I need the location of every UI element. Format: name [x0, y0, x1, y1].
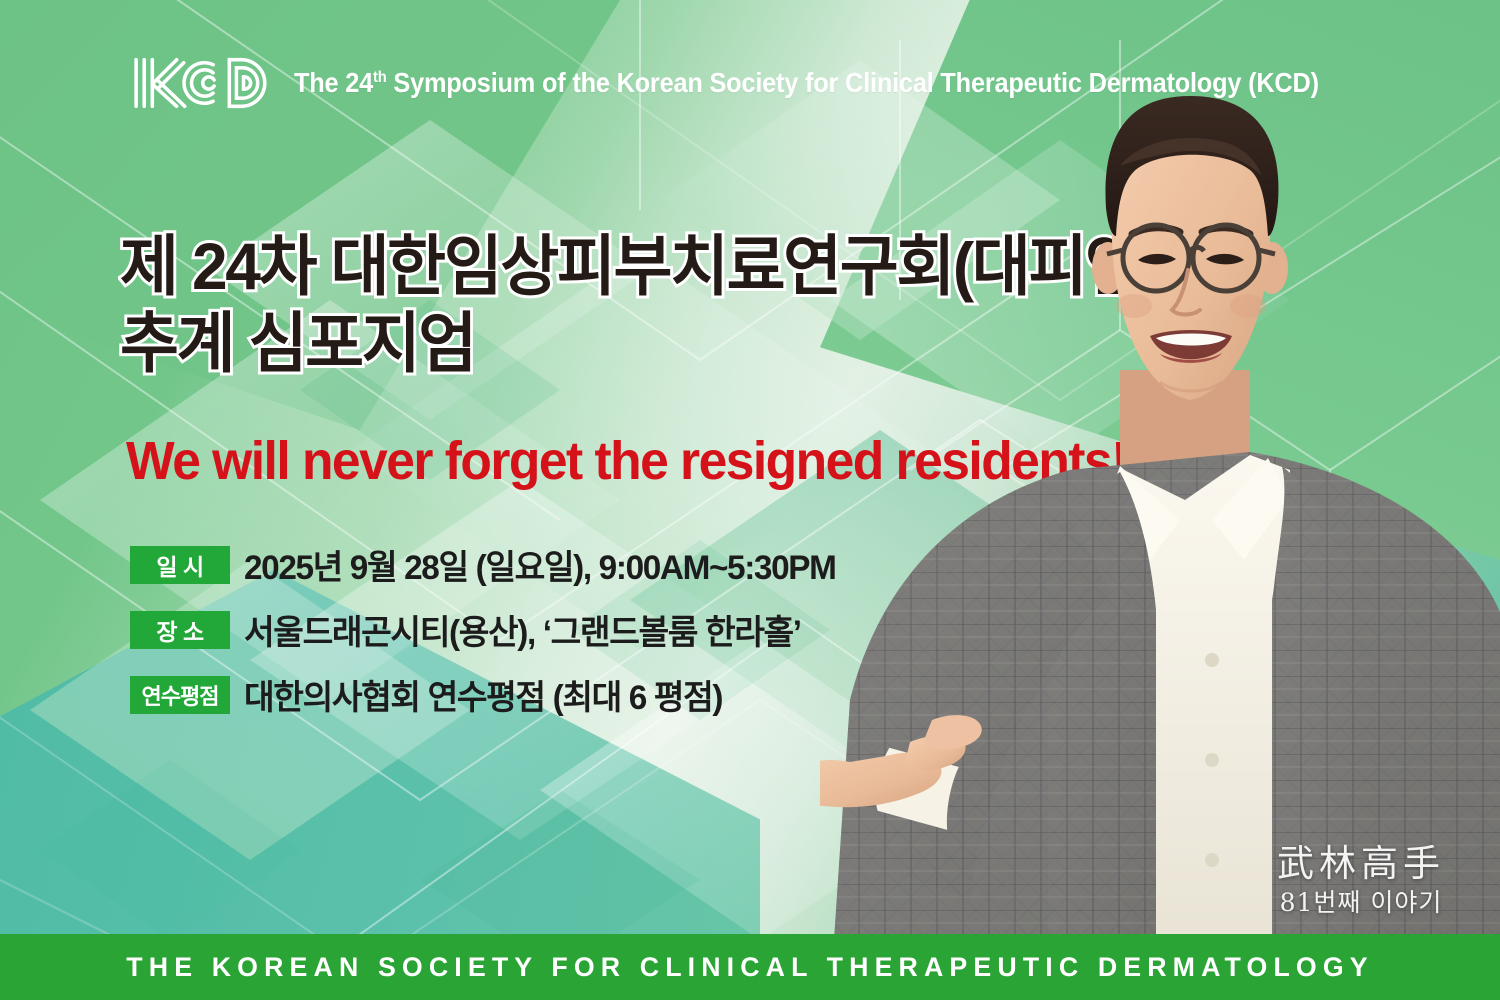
- symposium-poster: The 24th Symposium of the Korean Society…: [0, 0, 1500, 1000]
- header-title: The 24th Symposium of the Korean Society…: [294, 67, 1319, 99]
- page-title-line2: 추계 심포지엄: [120, 305, 1161, 382]
- page-subtitle: We will never forget the resigned reside…: [126, 430, 1127, 492]
- badge-date: 일 시: [130, 546, 230, 584]
- event-info-list: 일 시 2025년 9월 28일 (일요일), 9:00AM~5:30PM 장 …: [130, 540, 848, 719]
- header: The 24th Symposium of the Korean Society…: [128, 52, 1408, 114]
- footer-text: THE KOREAN SOCIETY FOR CLINICAL THERAPEU…: [126, 952, 1373, 983]
- page-title-line1: 제 24차 대한임상피부치료연구회(대피연): [120, 229, 1161, 303]
- badge-credits: 연수평점: [130, 676, 230, 714]
- speaker-caption-chinese: 武林高手: [1277, 843, 1445, 886]
- kcd-logo-icon: [128, 52, 280, 114]
- speaker-caption-korean: 81번째 이야기: [1277, 889, 1445, 918]
- page-title: 제 24차 대한임상피부치료연구회(대피연) 추계 심포지엄: [120, 228, 1161, 382]
- info-value-venue: 서울드래곤시티(용산), ‘그랜드볼룸 한라홀’: [244, 605, 801, 654]
- header-title-ordinal: th: [373, 69, 386, 86]
- header-title-prefix: The 24: [294, 67, 373, 98]
- info-row-venue: 장 소 서울드래곤시티(용산), ‘그랜드볼룸 한라홀’: [130, 605, 848, 654]
- info-value-credits: 대한의사협회 연수평점 (최대 6 평점): [244, 670, 722, 719]
- background-geometric-pattern: [0, 0, 1500, 1000]
- info-value-date: 2025년 9월 28일 (일요일), 9:00AM~5:30PM: [244, 540, 835, 589]
- footer-bar: THE KOREAN SOCIETY FOR CLINICAL THERAPEU…: [0, 934, 1500, 1000]
- info-row-credits: 연수평점 대한의사협회 연수평점 (최대 6 평점): [130, 670, 848, 719]
- header-title-rest: Symposium of the Korean Society for Clin…: [387, 67, 1319, 98]
- info-row-date: 일 시 2025년 9월 28일 (일요일), 9:00AM~5:30PM: [130, 540, 848, 589]
- speaker-caption: 武林高手 81번째 이야기: [1277, 843, 1445, 918]
- badge-venue: 장 소: [130, 611, 230, 649]
